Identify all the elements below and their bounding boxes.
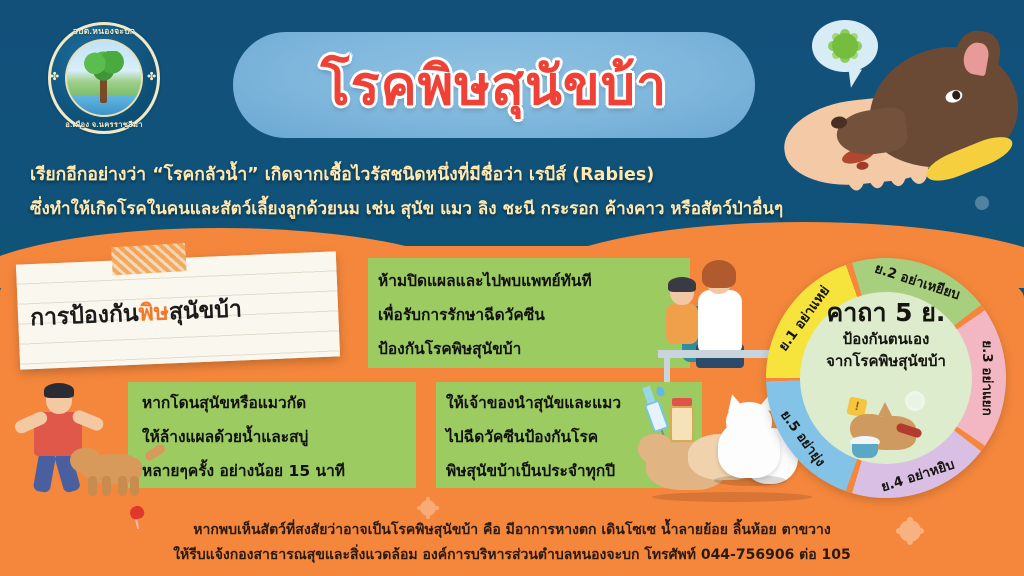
wheel-center-line-3: จากโรคพิษสุนัขบ้า: [800, 350, 972, 372]
man-hair: [44, 383, 74, 398]
hospital-line-2: เพื่อรับการรักษาฉีดวัคซีน: [378, 298, 680, 332]
doctor-hair: [702, 260, 736, 288]
note-title-part2: สุนัขบ้า: [168, 296, 242, 325]
water-bowl-icon: [852, 444, 878, 458]
rabies-infographic-poster: อบต.หนองจะบก อ.เมือง จ.นครราชสีมา ✤ ✤ โร…: [0, 0, 1024, 576]
child-body: [666, 304, 698, 344]
wheel-center-text: คาถา 5 ย. ป้องกันตนเอง จากโรคพิษสุนัขบ้า: [800, 298, 972, 372]
hospital-line-1: ห้ามปิดแผลและไปพบแพทย์ทันที: [378, 264, 680, 298]
wash-line-3: หลายๆครั้ง อย่างน้อย 15 นาที: [142, 454, 402, 488]
wash-line-2: ให้ล้างแผลด้วยน้ำและสบู่: [142, 420, 402, 454]
rabid-dog-icon: !: [852, 400, 926, 458]
virus-decoration-3-icon: [975, 196, 989, 210]
footer-contact-block: หากพบเห็นสัตว์ที่สงสัยว่าอาจเป็นโรคพิษสุ…: [0, 518, 1024, 568]
footer-line-2: ให้รีบแจ้งกองสาธารณสุขและสิ่งแวดล้อม องค…: [0, 543, 1024, 568]
note-title-highlight: พิษ: [138, 299, 169, 326]
intro-text-block: เรียกอีกอย่างว่า “โรคกลัวน้ำ” เกิดจากเชื…: [30, 158, 1000, 226]
logo-star-right-icon: ✤: [147, 72, 158, 83]
virus-decoration-2-icon: [420, 500, 436, 516]
wheel-center-line-2: ป้องกันตนเอง: [800, 328, 972, 350]
doctor-coat: [698, 290, 742, 352]
pet-dog-1-head: [638, 434, 672, 464]
sparkle-icon: [908, 394, 922, 408]
logo-arc-top-text: อบต.หนองจะบก: [48, 24, 160, 38]
footer-line-1: หากพบเห็นสัตว์ที่สงสัยว่าอาจเป็นโรคพิษสุ…: [0, 518, 1024, 543]
washi-tape: [111, 243, 187, 275]
advice-block-wash-wound: หากโดนสุนัขหรือแมวกัด ให้ล้างแผลด้วยน้ำแ…: [128, 382, 416, 488]
page-title: โรคพิษสุนัขบ้า: [233, 32, 755, 138]
organization-logo: อบต.หนองจะบก อ.เมือง จ.นครราชสีมา ✤ ✤: [48, 22, 160, 134]
chasing-dog-illustration: [72, 440, 158, 496]
logo-arc-bottom-text: อ.เมือง จ.นครราชสีมา: [48, 119, 160, 131]
logo-star-left-icon: ✤: [50, 72, 61, 83]
advice-block-hospital: ห้ามปิดแผลและไปพบแพทย์ทันที เพื่อรับการร…: [368, 258, 690, 368]
virus-decoration-1-icon: [899, 520, 921, 542]
rabid-dog-ear: [878, 402, 892, 416]
chasing-dog-head: [70, 448, 100, 473]
speech-bubble-tail: [844, 67, 862, 89]
wheel-center-title: คาถา 5 ย.: [800, 298, 972, 328]
intro-line-1: เรียกอีกอย่างว่า “โรคกลัวน้ำ” เกิดจากเชื…: [30, 158, 1000, 192]
vaccine-bottle-cap: [672, 398, 692, 406]
virus-icon: [832, 33, 858, 59]
speech-bubble: [812, 20, 878, 72]
dog-eye: [944, 88, 964, 104]
wash-line-1: หากโดนสุนัขหรือแมวกัด: [142, 386, 402, 420]
intro-line-2: ซึ่งทำให้เกิดโรคในคนและสัตว์เลี้ยงลูกด้ว…: [30, 192, 1000, 226]
note-card-title: การป้องกันพิษสุนัขบ้า: [29, 288, 330, 337]
five-yor-wheel-diagram: คาถา 5 ย. ป้องกันตนเอง จากโรคพิษสุนัขบ้า…: [766, 258, 1006, 498]
prevention-note-card: การป้องกันพิษสุนัขบ้า: [16, 251, 340, 369]
hospital-line-3: ป้องกันโรคพิษสุนัขบ้า: [378, 332, 680, 366]
title-pill: โรคพิษสุนัขบ้า: [233, 32, 755, 138]
note-title-part1: การป้องกัน: [30, 301, 139, 332]
syringe-drop: [655, 385, 666, 397]
child-hair: [668, 277, 696, 292]
dog-ear: [951, 27, 1003, 86]
logo-text-wrap: อบต.หนองจะบก อ.เมือง จ.นครราชสีมา ✤ ✤: [48, 22, 160, 134]
